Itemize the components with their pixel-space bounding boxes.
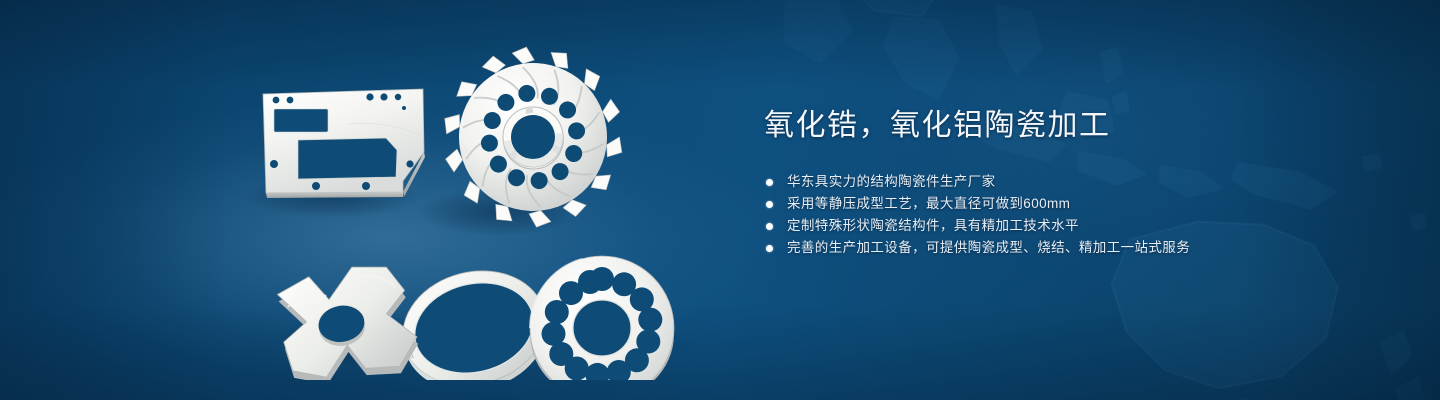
ceramic-mounting-plate [263, 89, 425, 198]
bullet-dot-icon [766, 179, 773, 186]
feature-item-1-label: 华东具实力的结构陶瓷件生产厂家 [787, 171, 996, 193]
bullet-dot-icon [766, 245, 773, 252]
feature-item-4-label: 完善的生产加工设备，可提供陶瓷成型、烧结、精加工一站式服务 [787, 237, 1190, 259]
banner-copy: 氧化锆，氧化铝陶瓷加工 华东具实力的结构陶瓷件生产厂家 采用等静压成型工艺，最大… [764, 106, 1384, 259]
feature-list: 华东具实力的结构陶瓷件生产厂家 采用等静压成型工艺，最大直径可做到600mm 定… [764, 171, 1384, 259]
feature-item-2: 采用等静压成型工艺，最大直径可做到600mm [764, 193, 1384, 215]
bullet-dot-icon [766, 223, 773, 230]
feature-item-3: 定制特殊形状陶瓷结构件，具有精加工技术水平 [764, 215, 1384, 237]
feature-item-1: 华东具实力的结构陶瓷件生产厂家 [764, 171, 1384, 193]
feature-item-2-label: 采用等静压成型工艺，最大直径可做到600mm [787, 193, 1070, 215]
hero-banner: 氧化锆，氧化铝陶瓷加工 华东具实力的结构陶瓷件生产厂家 采用等静压成型工艺，最大… [0, 0, 1440, 400]
bullet-dot-icon [766, 201, 773, 208]
feature-item-3-label: 定制特殊形状陶瓷结构件，具有精加工技术水平 [787, 215, 1079, 237]
product-photo-group [236, 40, 716, 380]
ceramic-perforated-disc [530, 256, 674, 380]
feature-item-4: 完善的生产加工设备，可提供陶瓷成型、烧结、精加工一站式服务 [764, 237, 1384, 259]
banner-headline: 氧化锆，氧化铝陶瓷加工 [764, 106, 1384, 146]
